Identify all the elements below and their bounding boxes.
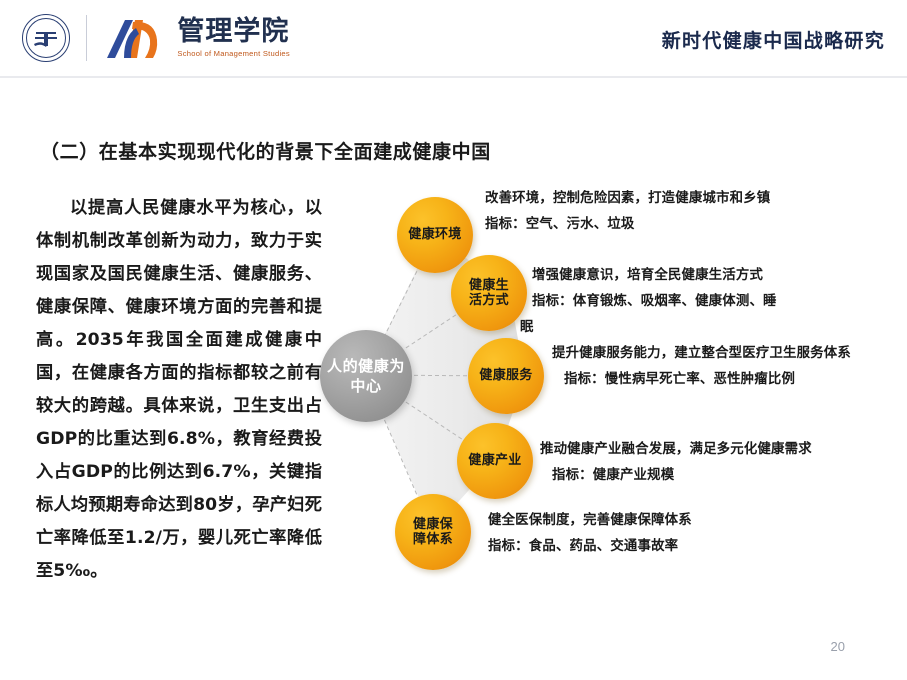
desc-block-health-industry: 推动健康产业融合发展，满足多元化健康需求 指标：健康产业规模 (540, 437, 900, 489)
diagram-node-label: 健康服务 (479, 368, 532, 383)
desc-line-primary: 增强健康意识，培育全民健康生活方式 (520, 263, 900, 289)
desc-line-primary: 提升健康服务能力，建立整合型医疗卫生服务体系 (552, 341, 902, 367)
brand-logo-group: 管理学院 School of Management Studies (22, 12, 290, 64)
desc-line-indicator: 指标：食品、药品、交通事故率 (488, 534, 868, 560)
desc-line-indicator: 指标：体育锻炼、吸烟率、健康体测、睡 (520, 289, 900, 315)
diagram-node-healthy-lifestyle[interactable]: 健康生活方式 (451, 255, 527, 331)
school-name-cn: 管理学院 (177, 18, 290, 46)
diagram-node-label: 健康产业 (468, 453, 521, 468)
diagram-node-health-security-system[interactable]: 健康保障体系 (395, 494, 471, 570)
body-paragraph: 以提高人民健康水平为核心，以体制机制改革创新为动力，致力于实现国家及国民健康生活… (36, 192, 322, 588)
header-title: 新时代健康中国战略研究 (662, 26, 885, 53)
school-logo-text: 管理学院 School of Management Studies (177, 18, 290, 57)
desc-line-primary: 推动健康产业融合发展，满足多元化健康需求 (540, 437, 900, 463)
logo-divider (86, 15, 87, 61)
school-logo-mark-icon (103, 16, 169, 60)
diagram-node-label: 健康环境 (408, 227, 461, 242)
desc-block-healthy-lifestyle: 增强健康意识，培育全民健康生活方式 指标：体育锻炼、吸烟率、健康体测、睡 眠 (520, 263, 900, 341)
desc-line-indicator: 指标：慢性病早死亡率、恶性肿瘤比例 (552, 367, 902, 393)
crest-glyph-icon (33, 28, 59, 48)
desc-line-primary: 健全医保制度，完善健康保障体系 (488, 508, 868, 534)
desc-line-indicator-wrap: 眠 (520, 315, 900, 341)
page-header: 管理学院 School of Management Studies 新时代健康中… (0, 0, 907, 76)
school-name-en: School of Management Studies (177, 49, 290, 58)
desc-block-health-services: 提升健康服务能力，建立整合型医疗卫生服务体系 指标：慢性病早死亡率、恶性肿瘤比例 (552, 341, 902, 393)
diagram-node-health-environment[interactable]: 健康环境 (397, 197, 473, 273)
desc-line-primary: 改善环境，控制危险因素，打造健康城市和乡镇 (485, 186, 885, 212)
header-divider (0, 76, 907, 78)
desc-block-health-security-system: 健全医保制度，完善健康保障体系 指标：食品、药品、交通事故率 (488, 508, 868, 560)
diagram-node-health-industry[interactable]: 健康产业 (457, 423, 533, 499)
desc-line-indicator: 指标：空气、污水、垃圾 (485, 212, 885, 238)
university-crest-icon (22, 14, 70, 62)
diagram-center-node[interactable]: 人的健康为中心 (320, 330, 412, 422)
diagram-node-label: 健康保障体系 (407, 517, 459, 548)
diagram-node-label: 健康生活方式 (463, 278, 515, 309)
desc-block-health-environment: 改善环境，控制危险因素，打造健康城市和乡镇 指标：空气、污水、垃圾 (485, 186, 885, 238)
desc-line-indicator: 指标：健康产业规模 (540, 463, 900, 489)
page-number: 20 (831, 639, 845, 654)
section-heading: （二）在基本实现现代化的背景下全面建成健康中国 (40, 137, 491, 164)
diagram-node-health-services[interactable]: 健康服务 (468, 338, 544, 414)
diagram-center-label: 人的健康为中心 (320, 356, 412, 397)
